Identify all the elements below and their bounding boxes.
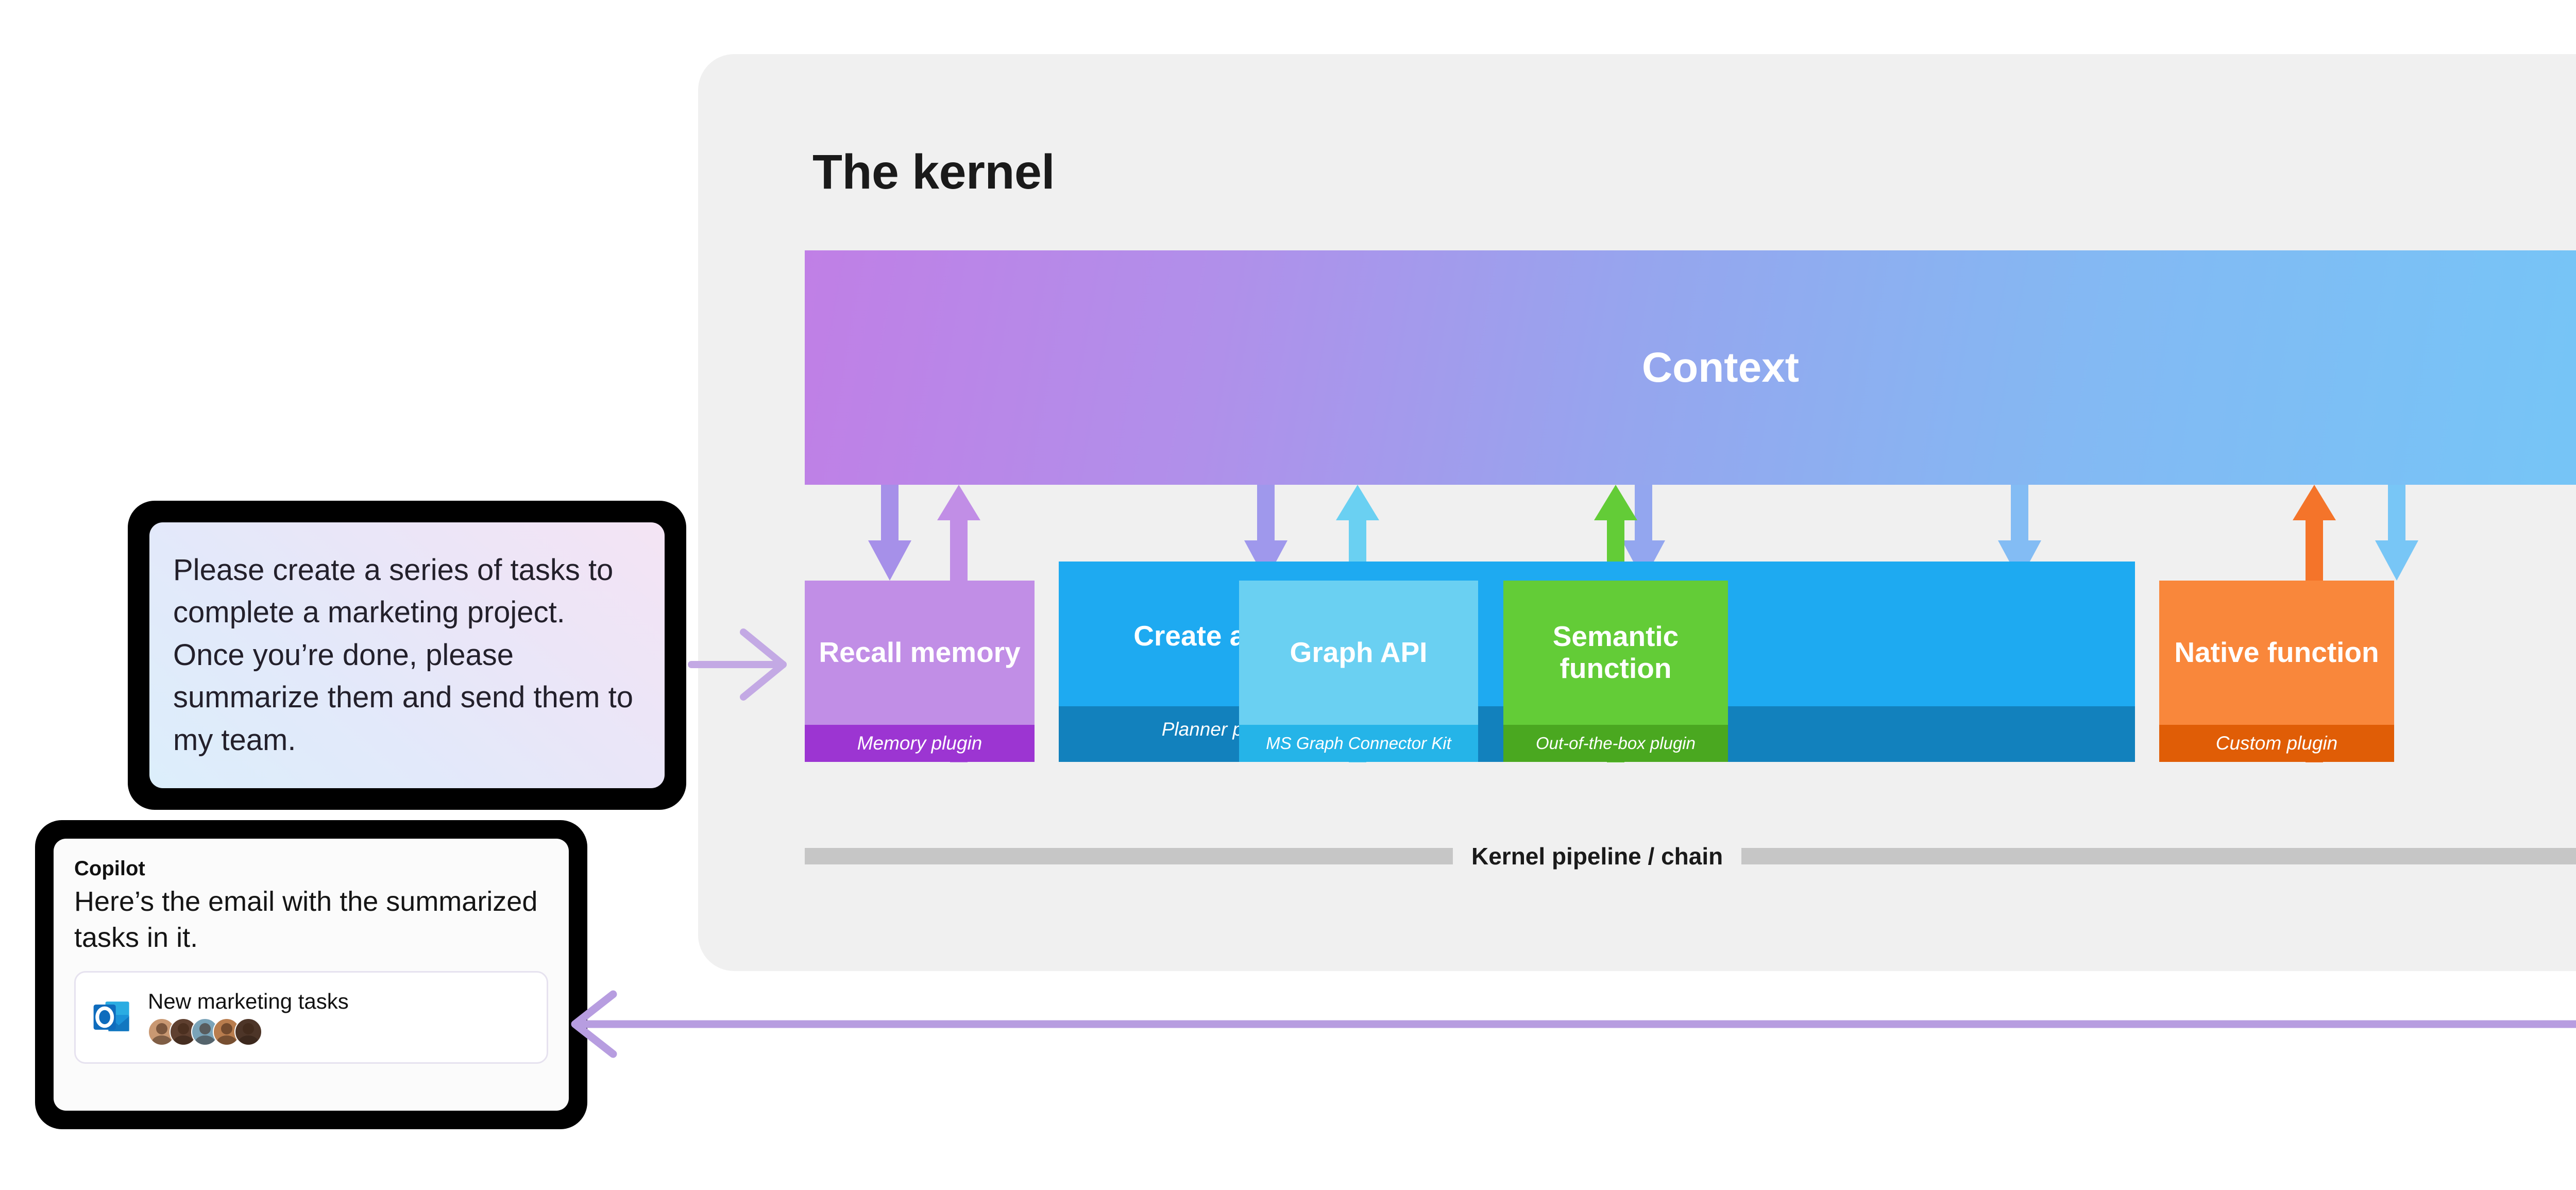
block-semantic-function-footer: Out-of-the-box plugin — [1503, 725, 1728, 762]
copilot-label: Copilot — [74, 857, 548, 880]
user-prompt-text: Please create a series of tasks to compl… — [173, 549, 641, 761]
block-recall-memory[interactable]: Recall memory Memory plugin — [805, 581, 1035, 762]
outlook-icon — [89, 993, 137, 1043]
block-recall-memory-footer: Memory plugin — [805, 725, 1035, 762]
pipeline-label: Kernel pipeline / chain — [1453, 842, 1741, 870]
user-prompt-bubble[interactable]: Please create a series of tasks to compl… — [149, 522, 665, 788]
kernel-pipeline: Kernel pipeline / chain — [805, 833, 2576, 879]
context-label: Context — [805, 344, 2576, 392]
block-semantic-function[interactable]: Semantic function Out-of-the-box plugin — [1503, 581, 1728, 762]
context-down-arrow-1 — [868, 485, 911, 581]
copilot-response-text: Here’s the email with the summarized tas… — [74, 883, 548, 956]
context-down-arrow-5 — [2375, 485, 2418, 581]
pipeline-arrow-right — [1741, 833, 2576, 879]
block-graph-api-title: Graph API — [1239, 581, 1478, 725]
context-bar: Context — [805, 250, 2576, 485]
email-attachment-card[interactable]: New marketing tasks — [74, 971, 548, 1064]
kernel-panel: The kernel Context — [698, 54, 2576, 971]
pipeline-bar-right — [1741, 848, 2576, 864]
block-native-function[interactable]: Native function Custom plugin — [2159, 581, 2394, 762]
page-title: The kernel — [812, 144, 1055, 200]
avatar — [234, 1018, 262, 1046]
block-graph-api[interactable]: Graph API MS Graph Connector Kit — [1239, 581, 1478, 762]
block-graph-api-footer: MS Graph Connector Kit — [1239, 725, 1478, 762]
avatar-group — [148, 1018, 349, 1046]
email-body: New marketing tasks — [148, 989, 349, 1046]
block-native-function-footer: Custom plugin — [2159, 725, 2394, 762]
block-semantic-function-title: Semantic function — [1503, 581, 1728, 725]
block-recall-memory-title: Recall memory — [805, 581, 1035, 725]
email-title: New marketing tasks — [148, 989, 349, 1014]
block-native-function-title: Native function — [2159, 581, 2394, 725]
copilot-response-card[interactable]: Copilot Here’s the email with the summar… — [54, 839, 569, 1111]
user-prompt-frame: Please create a series of tasks to compl… — [128, 501, 686, 810]
pipeline-bar-left — [805, 848, 1453, 864]
copilot-response-frame: Copilot Here’s the email with the summar… — [35, 820, 587, 1129]
